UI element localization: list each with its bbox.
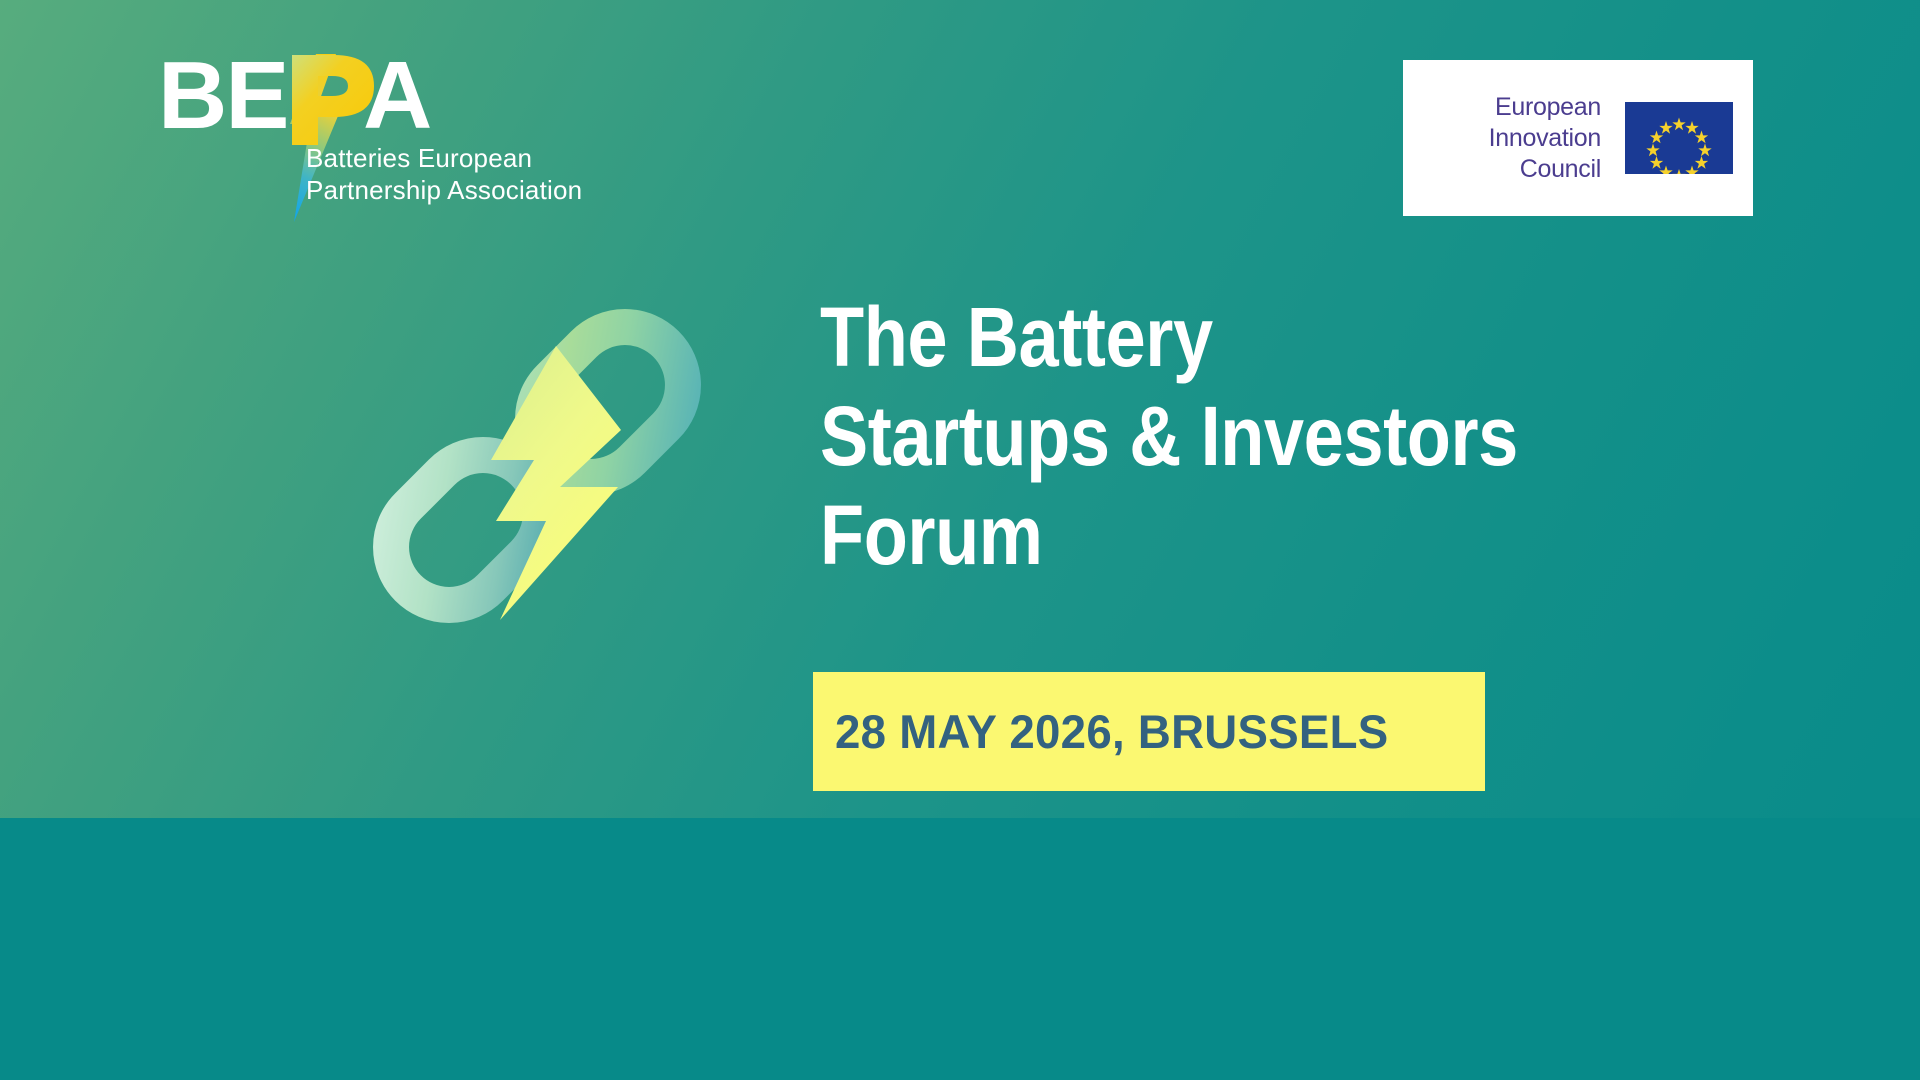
chain-link-lightning-icon xyxy=(288,272,788,662)
eic-logo-text: European Innovation Council xyxy=(1425,92,1601,185)
headline-line-1: The Battery xyxy=(820,288,1439,387)
eic-line-1: European xyxy=(1425,92,1601,123)
european-union-flag-icon xyxy=(1625,102,1733,174)
european-innovation-council-logo[interactable]: European Innovation Council xyxy=(1403,60,1753,216)
headline-line-3: Forum xyxy=(820,486,1439,585)
page-title: The Battery Startups & Investors Forum xyxy=(820,288,1540,585)
event-date-text: 28 MAY 2026, BRUSSELS xyxy=(835,704,1388,759)
bepa-tagline: Batteries European Partnership Associati… xyxy=(306,142,596,206)
eic-line-2: Innovation xyxy=(1425,123,1601,154)
eic-line-3: Council xyxy=(1425,154,1601,185)
event-banner: BE A xyxy=(0,0,1920,1080)
headline-line-2: Startups & Investors xyxy=(820,387,1439,486)
bepa-logo[interactable]: BE A xyxy=(158,52,588,212)
bepa-p-letter xyxy=(262,52,380,148)
event-date-banner: 28 MAY 2026, BRUSSELS xyxy=(813,672,1485,791)
bepa-tagline-line1: Batteries European xyxy=(306,142,596,174)
background-lower-band xyxy=(0,818,1920,1080)
bepa-tagline-line2: Partnership Association xyxy=(306,174,596,206)
